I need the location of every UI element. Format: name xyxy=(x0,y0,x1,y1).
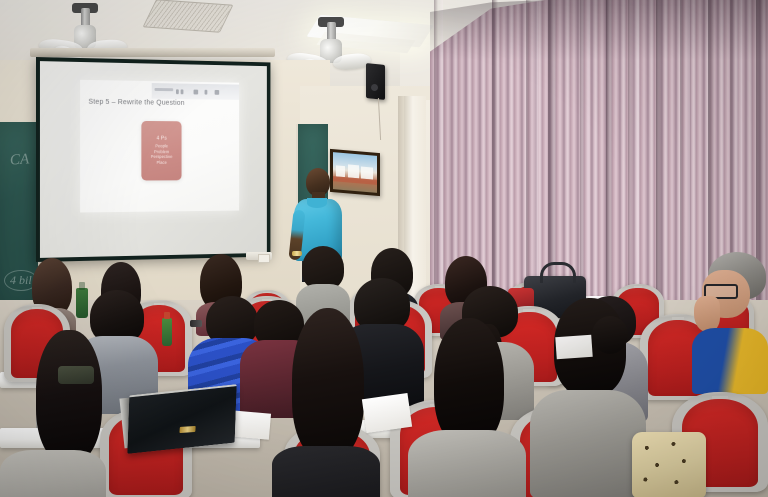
clasped-hands xyxy=(694,296,720,332)
bottle-cap-icon xyxy=(164,312,170,319)
toolbar-prev-icon[interactable] xyxy=(194,89,198,94)
wristwatch-icon xyxy=(190,320,202,327)
classroom-scene: CA 4 bil Step 5 – Rewrite the Question 4… xyxy=(0,0,768,497)
black-binder[interactable] xyxy=(127,384,236,454)
person-torso xyxy=(272,446,380,497)
student-front-left-grey xyxy=(0,330,106,497)
slide-title: Step 5 – Rewrite the Question xyxy=(88,97,184,107)
wall-speaker xyxy=(366,63,385,100)
toolbar-icon[interactable] xyxy=(176,89,179,94)
person-hair xyxy=(36,330,102,462)
person-bun xyxy=(592,316,628,354)
person-torso xyxy=(530,390,646,497)
air-conditioning-vent-icon xyxy=(143,0,234,33)
projector-screen-surface: Step 5 – Rewrite the Question 4 Ps Peopl… xyxy=(40,61,267,258)
curtain-top-shadow xyxy=(430,0,768,60)
toolbar-pause-icon[interactable] xyxy=(204,89,207,94)
folded-garment xyxy=(58,366,94,384)
student-grey-sweater-woman xyxy=(408,318,526,497)
toolbar-next-icon[interactable] xyxy=(215,89,219,94)
wall-socket xyxy=(258,254,270,263)
presenter-collar xyxy=(307,198,327,208)
handbag-handle xyxy=(540,262,576,283)
student-grey-hoodie-center xyxy=(530,298,646,494)
chalkboard-mark: CA xyxy=(9,151,29,169)
projector-screen-roller xyxy=(30,48,275,57)
slide-four-ps-box: 4 Ps People Problem Perspective Place xyxy=(142,121,182,180)
binder-emblem-icon xyxy=(179,426,195,433)
patterned-cream-bag xyxy=(632,432,706,497)
bottle-cap-icon xyxy=(79,282,85,290)
toolbar-text-block xyxy=(154,88,173,91)
green-bottle-small xyxy=(162,318,172,346)
person-torso xyxy=(692,328,768,394)
white-papers xyxy=(555,335,592,359)
photo-building xyxy=(361,167,373,180)
person-torso xyxy=(0,450,106,497)
person-torso xyxy=(408,430,526,497)
photo-building xyxy=(348,164,359,178)
slide-box-item: Place xyxy=(157,160,167,166)
toolbar-icon[interactable] xyxy=(181,89,184,94)
person-hair xyxy=(434,318,504,446)
projector-screen[interactable]: Step 5 – Rewrite the Question 4 Ps Peopl… xyxy=(36,57,270,262)
attendee-glasses-blue-yellow xyxy=(692,252,768,392)
presentation-slide: Step 5 – Rewrite the Question 4 Ps Peopl… xyxy=(80,80,238,213)
speaker-cone-icon xyxy=(371,84,378,91)
slide-box-title: 4 Ps xyxy=(156,135,166,141)
person-hair xyxy=(292,308,364,458)
white-papers xyxy=(362,393,412,433)
